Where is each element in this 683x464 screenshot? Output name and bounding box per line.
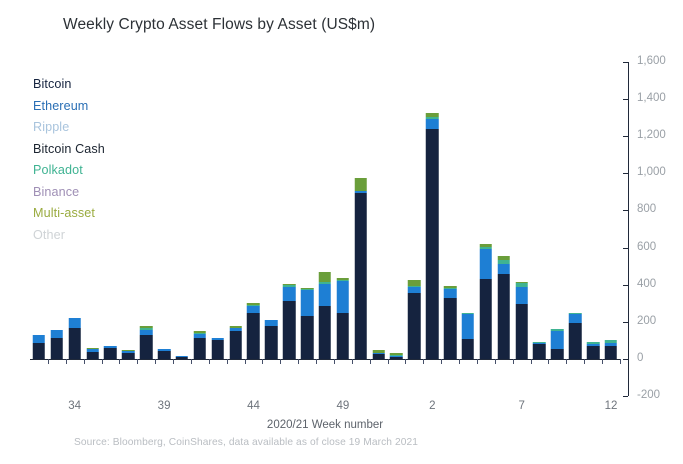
bar-segment-bitcoin <box>265 326 278 359</box>
x-axis-tick <box>477 359 478 364</box>
source-note: Source: Bloomberg, CoinShares, data avai… <box>74 437 418 448</box>
bar-segment-ethereum <box>551 331 564 349</box>
x-axis-label: 12 <box>605 400 618 412</box>
bar-column[interactable] <box>548 62 566 396</box>
bar-segment-bitcoin <box>140 335 153 359</box>
bar-segment-bitcoin <box>247 313 260 358</box>
y-axis-tick <box>623 99 628 100</box>
bar-segment-ethereum <box>426 119 439 129</box>
bar-segment-bitcoin <box>569 323 582 359</box>
bar-segment-multi-asset <box>319 272 332 282</box>
bar-segment-bitcoin <box>194 338 207 358</box>
bar-segment-bitcoin <box>33 343 46 359</box>
x-axis-tick <box>370 359 371 364</box>
bar-segment-bitcoin <box>158 351 171 359</box>
x-axis-tick <box>119 359 120 364</box>
bar-segment-ethereum <box>301 290 314 316</box>
x-axis-label: 44 <box>247 400 260 412</box>
bar-column[interactable] <box>441 62 459 396</box>
bar-stack <box>319 272 332 359</box>
y-axis-tick <box>623 210 628 211</box>
y-axis-label: 1,600 <box>637 55 666 67</box>
y-axis-label: 600 <box>637 241 656 253</box>
bar-column[interactable] <box>137 62 155 396</box>
bar-segment-ethereum <box>33 335 46 343</box>
x-axis-tick <box>531 359 532 364</box>
bar-column[interactable] <box>66 62 84 396</box>
bar-stack <box>372 350 385 359</box>
bar-stack <box>194 331 207 359</box>
bar-column[interactable] <box>584 62 602 396</box>
bar-segment-multi-asset <box>354 178 367 191</box>
bar-column[interactable] <box>102 62 120 396</box>
bar-segment-bitcoin <box>319 306 332 359</box>
x-axis-tick <box>298 359 299 364</box>
bar-column[interactable] <box>316 62 334 396</box>
bar-column[interactable] <box>298 62 316 396</box>
bar-segment-bitcoin <box>51 338 64 358</box>
x-axis-tick <box>280 359 281 364</box>
x-axis-label: 2 <box>429 400 435 412</box>
bar-segment-ethereum <box>319 284 332 306</box>
bar-segment-ethereum <box>247 306 260 313</box>
bar-column[interactable] <box>495 62 513 396</box>
x-axis-tick <box>405 359 406 364</box>
bar-column[interactable] <box>84 62 102 396</box>
bar-stack <box>158 349 171 359</box>
y-axis-tick <box>623 173 628 174</box>
bar-column[interactable] <box>370 62 388 396</box>
bar-column[interactable] <box>531 62 549 396</box>
chart-title: Weekly Crypto Asset Flows by Asset (US$m… <box>63 16 375 34</box>
x-axis-tick <box>423 359 424 364</box>
bar-stack <box>497 256 510 359</box>
bar-column[interactable] <box>513 62 531 396</box>
x-axis-title: 2020/21 Week number <box>267 419 383 431</box>
bar-stack <box>426 113 439 359</box>
x-axis-tick <box>84 359 85 364</box>
x-axis-tick <box>548 359 549 364</box>
bar-stack <box>301 288 314 359</box>
bar-stack <box>551 329 564 359</box>
x-axis-tick <box>155 359 156 364</box>
bar-stack <box>265 320 278 359</box>
y-axis-label: 800 <box>637 203 656 215</box>
bar-column[interactable] <box>602 62 620 396</box>
bar-segment-bitcoin <box>211 340 224 359</box>
bar-stack <box>104 346 117 359</box>
x-axis-tick <box>334 359 335 364</box>
bar-column[interactable] <box>173 62 191 396</box>
bar-segment-ethereum <box>480 249 493 279</box>
bar-segment-ethereum <box>569 314 582 322</box>
y-axis-tick <box>623 136 628 137</box>
y-axis-tick <box>623 248 628 249</box>
bar-segment-bitcoin <box>551 349 564 359</box>
bar-stack <box>515 282 528 359</box>
x-axis-tick <box>584 359 585 364</box>
bar-stack <box>408 280 421 359</box>
x-axis-tick <box>388 359 389 364</box>
bar-stack <box>68 318 81 359</box>
bar-segment-bitcoin <box>104 348 117 359</box>
bar-segment-ethereum <box>283 287 296 301</box>
y-axis-line <box>628 62 629 396</box>
bar-segment-bitcoin <box>337 313 350 359</box>
bar-stack <box>229 326 242 359</box>
bar-column[interactable] <box>48 62 66 396</box>
y-axis-tick <box>623 359 628 360</box>
bar-column[interactable] <box>30 62 48 396</box>
bar-column[interactable] <box>334 62 352 396</box>
x-axis-label: 39 <box>158 400 171 412</box>
bar-segment-ethereum <box>68 318 81 329</box>
bar-segment-bitcoin <box>229 331 242 359</box>
bar-segment-ethereum <box>462 314 475 339</box>
y-axis-tick <box>623 322 628 323</box>
bar-segment-ethereum <box>515 287 528 305</box>
y-axis-tick <box>623 62 628 63</box>
bar-column[interactable] <box>119 62 137 396</box>
bar-segment-bitcoin <box>533 344 546 359</box>
bar-column[interactable] <box>262 62 280 396</box>
bar-segment-bitcoin <box>587 346 600 359</box>
bar-stack <box>462 313 475 359</box>
x-axis-tick <box>191 359 192 364</box>
y-axis-label: 0 <box>637 352 643 364</box>
bar-segment-bitcoin <box>515 304 528 359</box>
chart-container: Weekly Crypto Asset Flows by Asset (US$m… <box>0 0 683 464</box>
bar-segment-bitcoin <box>68 328 81 359</box>
bar-segment-bitcoin <box>301 316 314 359</box>
x-axis-tick <box>441 359 442 364</box>
x-axis-tick <box>316 359 317 364</box>
x-axis-tick <box>173 359 174 364</box>
bar-segment-bitcoin <box>408 293 421 359</box>
bar-stack <box>140 326 153 359</box>
y-axis-label: 1,400 <box>637 92 666 104</box>
y-axis-label: -200 <box>637 389 660 401</box>
bar-stack <box>444 286 457 359</box>
bar-column[interactable] <box>388 62 406 396</box>
x-axis-tick <box>602 359 603 364</box>
x-axis-tick <box>620 359 621 364</box>
bar-stack <box>569 313 582 359</box>
bar-stack <box>86 348 99 359</box>
bar-column[interactable] <box>209 62 227 396</box>
bar-segment-bitcoin <box>426 129 439 359</box>
bar-segment-bitcoin <box>354 193 367 359</box>
bar-column[interactable] <box>459 62 477 396</box>
bar-stack <box>480 244 493 359</box>
x-axis-tick <box>48 359 49 364</box>
bar-column[interactable] <box>423 62 441 396</box>
bar-stack <box>605 340 618 359</box>
bar-column[interactable] <box>405 62 423 396</box>
bar-stack <box>33 335 46 359</box>
bar-column[interactable] <box>191 62 209 396</box>
bar-stack <box>533 342 546 359</box>
bar-stack <box>122 350 135 359</box>
x-axis-label: 34 <box>68 400 81 412</box>
x-axis-tick <box>495 359 496 364</box>
bar-column[interactable] <box>566 62 584 396</box>
bar-segment-ethereum <box>497 264 510 274</box>
bar-stack <box>337 278 350 359</box>
bar-segment-bitcoin <box>462 339 475 358</box>
bar-stack <box>247 303 260 359</box>
bar-segment-ethereum <box>444 289 457 297</box>
plot-area <box>30 62 620 396</box>
x-axis-tick <box>209 359 210 364</box>
x-axis-tick <box>66 359 67 364</box>
x-axis-tick <box>352 359 353 364</box>
y-axis-tick <box>623 396 628 397</box>
x-axis-label: 49 <box>336 400 349 412</box>
bar-column[interactable] <box>477 62 495 396</box>
x-axis-tick <box>459 359 460 364</box>
x-axis-tick <box>245 359 246 364</box>
bar-segment-bitcoin <box>497 274 510 358</box>
x-axis-label: 7 <box>518 400 524 412</box>
x-axis-tick <box>513 359 514 364</box>
x-axis-tick <box>227 359 228 364</box>
bar-column[interactable] <box>280 62 298 396</box>
bar-stack <box>587 342 600 359</box>
bar-segment-bitcoin <box>283 301 296 359</box>
bar-stack <box>354 178 367 359</box>
bar-column[interactable] <box>352 62 370 396</box>
y-axis-label: 200 <box>637 315 656 327</box>
bar-segment-bitcoin <box>444 298 457 359</box>
bar-stack <box>211 338 224 359</box>
bar-stack <box>51 330 64 359</box>
x-axis-tick <box>566 359 567 364</box>
y-axis-label: 1,000 <box>637 166 666 178</box>
x-axis-tick <box>262 359 263 364</box>
y-axis-label: 1,200 <box>637 129 666 141</box>
x-axis-tick <box>137 359 138 364</box>
bar-stack <box>283 284 296 359</box>
y-axis-tick <box>623 285 628 286</box>
bar-segment-bitcoin <box>480 279 493 359</box>
x-axis-tick <box>102 359 103 364</box>
bar-column[interactable] <box>155 62 173 396</box>
bar-series-group <box>30 62 620 396</box>
bar-column[interactable] <box>245 62 263 396</box>
bar-segment-ethereum <box>337 281 350 313</box>
bar-segment-ethereum <box>51 330 64 339</box>
bar-column[interactable] <box>227 62 245 396</box>
y-axis-label: 400 <box>637 278 656 290</box>
bar-segment-bitcoin <box>605 346 618 359</box>
